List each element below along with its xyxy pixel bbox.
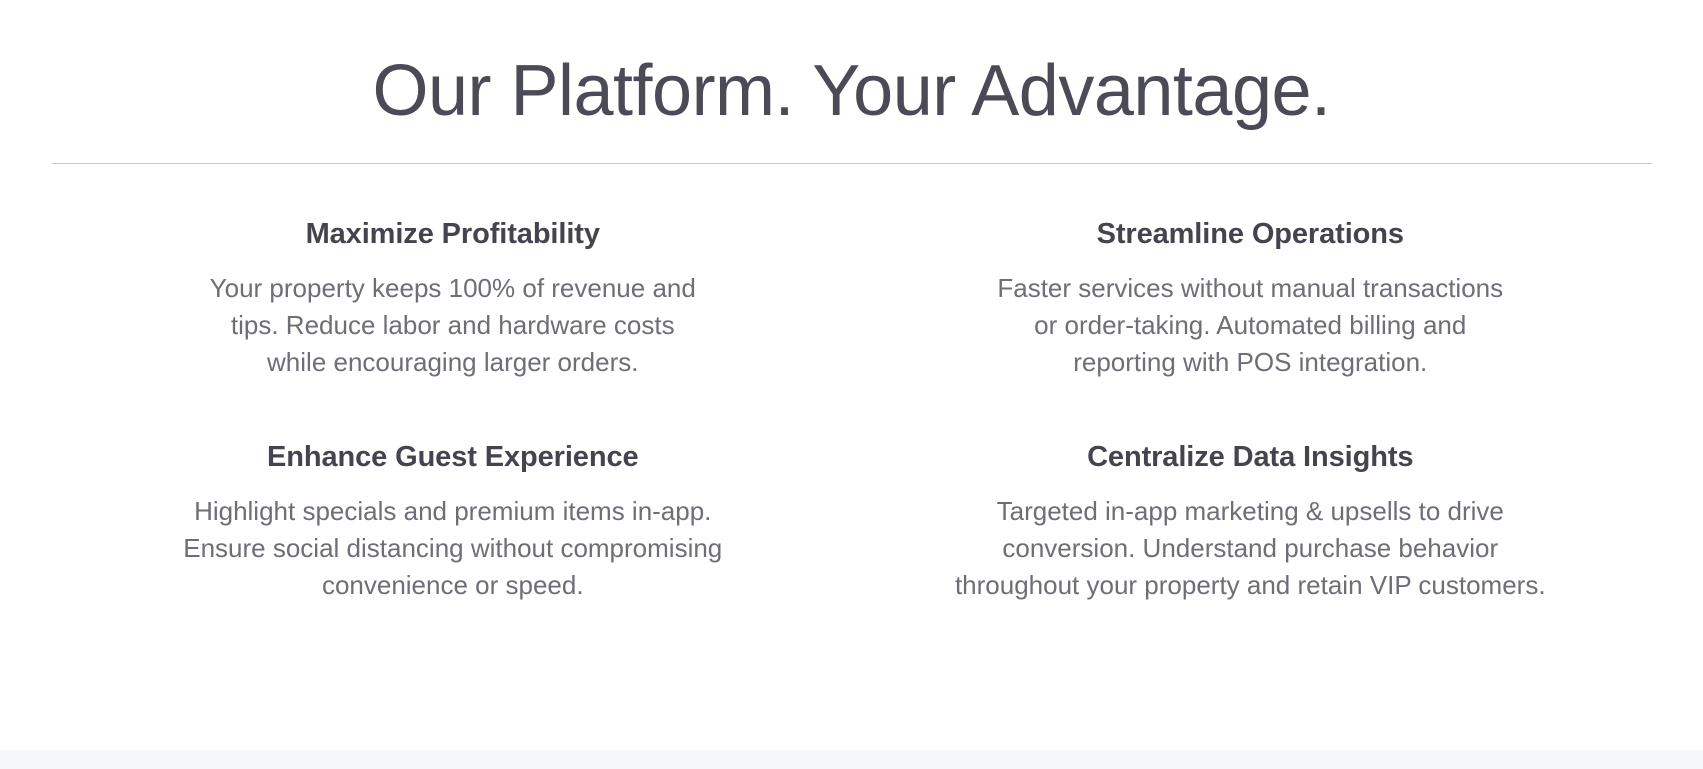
benefit-body-line: Faster services without manual transacti… — [930, 270, 1570, 307]
benefit-body: Faster services without manual transacti… — [930, 270, 1570, 381]
benefits-section: Our Platform. Your Advantage. Maximize P… — [0, 0, 1703, 769]
divider-wrap — [0, 131, 1703, 164]
benefit-card-enhance-guest-experience: Enhance Guest Experience Highlight speci… — [54, 439, 852, 604]
benefit-title: Streamline Operations — [892, 216, 1610, 252]
page-title: Our Platform. Your Advantage. — [0, 0, 1703, 131]
benefit-title: Enhance Guest Experience — [94, 439, 812, 475]
benefit-body-line: or order-taking. Automated billing and — [930, 307, 1570, 344]
benefit-card-centralize-data-insights: Centralize Data Insights Targeted in-app… — [852, 439, 1650, 604]
benefit-body-line: convenience or speed. — [133, 567, 773, 604]
benefit-card-maximize-profitability: Maximize Profitability Your property kee… — [54, 216, 852, 381]
benefit-card-streamline-operations: Streamline Operations Faster services wi… — [852, 216, 1650, 381]
benefit-body: Targeted in-app marketing & upsells to d… — [930, 493, 1570, 604]
benefit-title: Maximize Profitability — [94, 216, 812, 252]
benefit-body: Highlight specials and premium items in-… — [133, 493, 773, 604]
benefit-title: Centralize Data Insights — [892, 439, 1610, 475]
bottom-band — [0, 750, 1703, 769]
benefit-body-line: Targeted in-app marketing & upsells to d… — [930, 493, 1570, 530]
benefit-body-line: conversion. Understand purchase behavior — [930, 530, 1570, 567]
benefit-body-line: Your property keeps 100% of revenue and — [133, 270, 773, 307]
benefit-body-line: Ensure social distancing without comprom… — [133, 530, 773, 567]
benefit-body-line: throughout your property and retain VIP … — [930, 567, 1570, 604]
benefit-body: Your property keeps 100% of revenue and … — [133, 270, 773, 381]
benefit-body-line: tips. Reduce labor and hardware costs — [133, 307, 773, 344]
benefit-body-line: while encouraging larger orders. — [133, 344, 773, 381]
benefit-body-line: reporting with POS integration. — [930, 344, 1570, 381]
benefit-body-line: Highlight specials and premium items in-… — [133, 493, 773, 530]
benefits-grid: Maximize Profitability Your property kee… — [0, 164, 1703, 604]
